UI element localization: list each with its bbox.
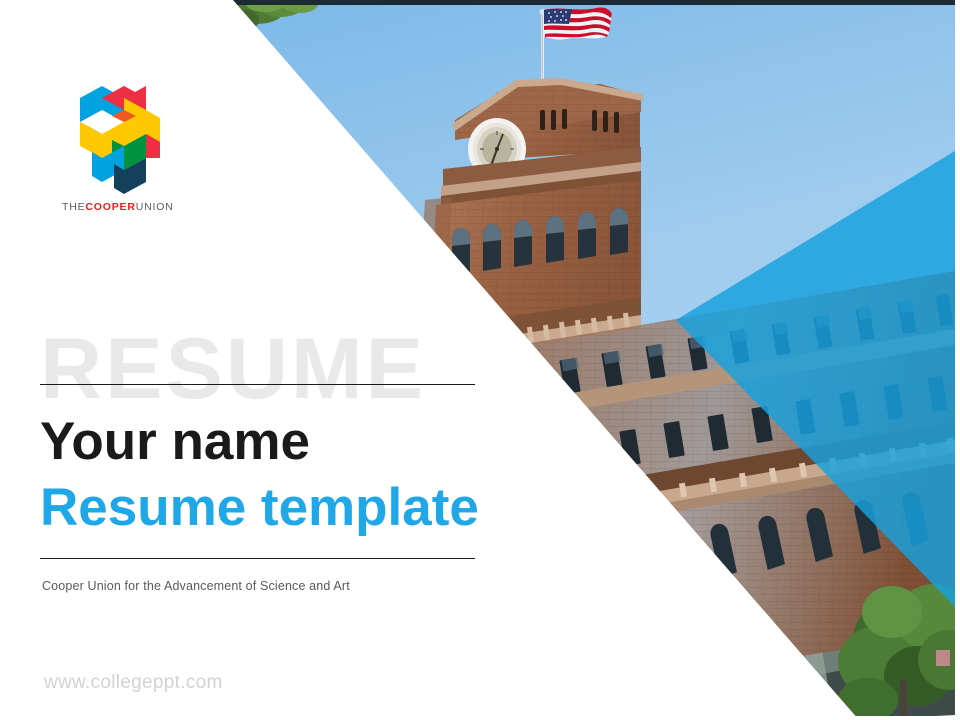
person-name: Your name xyxy=(40,414,310,470)
wordmark-cooper: COOPER xyxy=(85,201,135,213)
watermark-title: RESUME xyxy=(40,326,426,412)
divider-top xyxy=(40,384,475,385)
cooper-union-wordmark: THECOOPERUNION xyxy=(62,201,212,213)
cooper-union-logo: THECOOPERUNION xyxy=(62,82,212,213)
template-subtitle: Resume template xyxy=(40,480,479,536)
wordmark-the: THE xyxy=(62,201,85,213)
organization-line: Cooper Union for the Advancement of Scie… xyxy=(42,579,350,593)
bottom-margin xyxy=(0,716,960,720)
photo-top-band xyxy=(225,0,960,5)
cooper-union-logo-mark xyxy=(66,82,170,194)
us-flag xyxy=(544,7,612,39)
footer-website-url: www.collegeppt.com xyxy=(44,672,223,694)
resume-title-slide: THECOOPERUNION RESUME Your name Resume t… xyxy=(0,0,960,720)
divider-bottom xyxy=(40,558,475,559)
wordmark-union: UNION xyxy=(136,201,174,213)
right-margin xyxy=(955,0,960,720)
